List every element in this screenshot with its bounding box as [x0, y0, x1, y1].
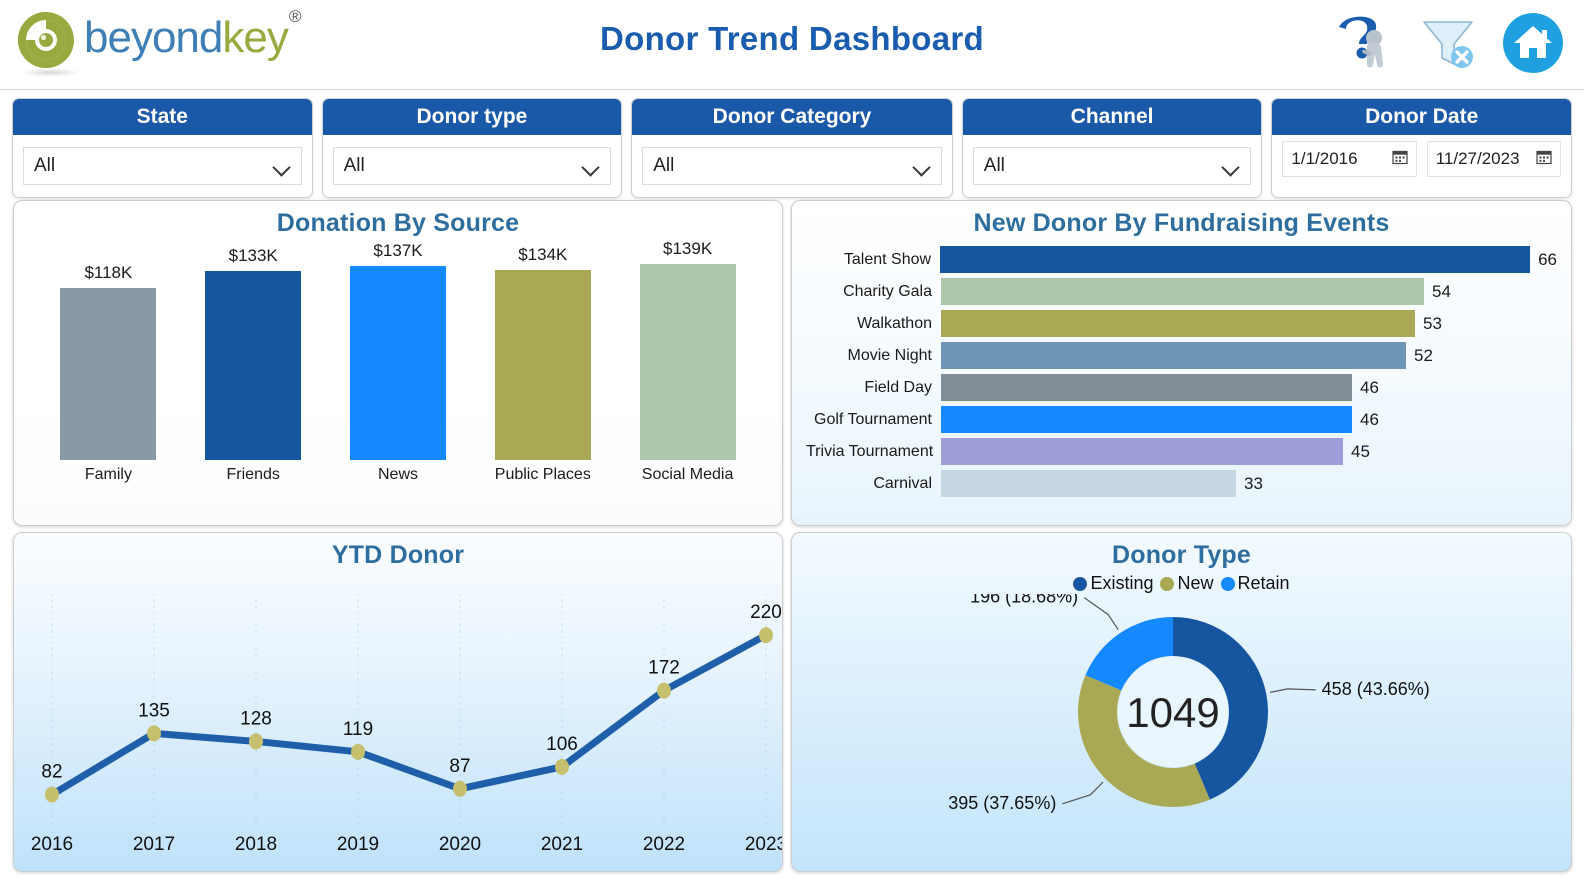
column-value-label: $137K — [373, 241, 422, 261]
horizontal-bar-row[interactable]: Walkathon53 — [806, 308, 1557, 339]
column-value-label: $139K — [663, 239, 712, 259]
horizontal-bar-fill[interactable] — [941, 470, 1236, 497]
filter-card-donor-type[interactable]: Donor type All — [322, 98, 623, 198]
chevron-down-icon — [273, 161, 291, 171]
donut-slice-label: 196 (18.68%) — [970, 594, 1078, 607]
column-category-label: News — [326, 466, 471, 484]
chevron-down-icon — [1222, 161, 1240, 171]
horizontal-bar-value-label: 45 — [1351, 442, 1370, 462]
donut-leader-line — [1084, 598, 1118, 630]
horizontal-bar-category-label: Movie Night — [806, 347, 941, 365]
donut-chart-donor-type: 1049458 (43.66%)395 (37.65%)196 (18.68%) — [792, 594, 1571, 852]
donor-category-dropdown-value: All — [653, 155, 674, 177]
column-bar[interactable] — [495, 270, 591, 460]
column-bar[interactable] — [640, 264, 736, 460]
filter-bar: State All Donor type All Donor Category — [0, 94, 1584, 198]
column-bar[interactable] — [205, 271, 301, 460]
column-bar[interactable] — [350, 266, 446, 460]
horizontal-bar-row[interactable]: Golf Tournament46 — [806, 404, 1557, 435]
column-item[interactable]: $134K — [470, 238, 615, 460]
state-dropdown-value: All — [34, 155, 55, 177]
horizontal-bar-track: 66 — [940, 246, 1557, 273]
legend-color-dot — [1073, 577, 1087, 591]
filter-card-state[interactable]: State All — [12, 98, 313, 198]
line-chart-ytd-donor: 8220161352017128201811920198720201062021… — [14, 570, 782, 866]
donut-slice-label: 458 (43.66%) — [1322, 679, 1430, 699]
column-item[interactable]: $137K — [326, 238, 471, 460]
column-category-label: Family — [36, 466, 181, 484]
legend-label: New — [1177, 573, 1213, 594]
horizontal-bar-fill[interactable] — [941, 406, 1352, 433]
line-marker[interactable] — [555, 759, 569, 775]
filter-card-channel[interactable]: Channel All — [962, 98, 1263, 198]
donor-type-dropdown-value: All — [344, 155, 365, 177]
column-value-label: $133K — [229, 246, 278, 266]
filter-body-donor-date: 1/1/2016 11/27/2023 — [1272, 135, 1571, 183]
chart-title-donation-by-source: Donation By Source — [14, 201, 782, 238]
horizontal-bar-row[interactable]: Movie Night52 — [806, 340, 1557, 371]
horizontal-bar-track: 45 — [941, 438, 1557, 465]
legend-item[interactable]: New — [1160, 573, 1213, 594]
line-axis-label: 2018 — [235, 834, 277, 855]
chart-title-ytd-donor: YTD Donor — [14, 533, 782, 570]
line-marker[interactable] — [351, 744, 365, 760]
line-marker[interactable] — [453, 781, 467, 797]
filter-body-donor-category: All — [632, 135, 952, 197]
donut-slice-label: 395 (37.65%) — [948, 793, 1056, 813]
horizontal-bar-category-label: Field Day — [806, 379, 941, 397]
filter-card-donor-category[interactable]: Donor Category All — [631, 98, 953, 198]
panel-donation-by-source: Donation By Source $118K$133K$137K$134K$… — [13, 200, 783, 526]
calendar-icon[interactable] — [1536, 149, 1552, 170]
help-question-icon[interactable] — [1334, 12, 1396, 79]
horizontal-bar-row[interactable]: Carnival33 — [806, 468, 1557, 499]
horizontal-bar-fill[interactable] — [941, 374, 1352, 401]
horizontal-bar-fill[interactable] — [941, 342, 1406, 369]
horizontal-bar-track: 53 — [941, 310, 1557, 337]
donor-type-dropdown[interactable]: All — [333, 147, 612, 185]
home-icon[interactable] — [1502, 12, 1564, 79]
filter-body-state: All — [13, 135, 312, 197]
column-item[interactable]: $133K — [181, 238, 326, 460]
donor-date-end-value: 11/27/2023 — [1436, 149, 1520, 169]
horizontal-bar-category-label: Carnival — [806, 475, 941, 493]
column-value-label: $134K — [518, 245, 567, 265]
horizontal-bar-fill[interactable] — [941, 278, 1424, 305]
horizontal-bar-track: 46 — [941, 406, 1557, 433]
line-axis-label: 2023 — [745, 834, 783, 855]
chevron-down-icon — [913, 161, 931, 171]
horizontal-bar-row[interactable]: Talent Show66 — [806, 244, 1557, 275]
horizontal-bar-category-label: Golf Tournament — [806, 411, 941, 429]
legend-color-dot — [1160, 577, 1174, 591]
column-bars-group: $118K$133K$137K$134K$139K — [36, 238, 760, 460]
header-icon-group — [1334, 12, 1564, 79]
panel-ytd-donor: YTD Donor 822016135201712820181192019872… — [13, 532, 783, 872]
horizontal-bar-track: 46 — [941, 374, 1557, 401]
horizontal-bar-category-label: Walkathon — [806, 315, 941, 333]
line-value-label: 135 — [138, 700, 170, 721]
line-axis-label: 2016 — [31, 834, 73, 855]
dashboard-root: beyondkey® Donor Trend Dashboard — [0, 0, 1584, 884]
donor-date-end-input[interactable]: 11/27/2023 — [1427, 141, 1561, 177]
line-axis-label: 2017 — [133, 834, 175, 855]
horizontal-bar-value-label: 46 — [1360, 378, 1379, 398]
filter-label-channel: Channel — [963, 99, 1262, 135]
line-value-label: 220 — [750, 602, 782, 623]
column-chart-donation-by-source: $118K$133K$137K$134K$139K FamilyFriendsN… — [14, 238, 782, 506]
donor-category-dropdown[interactable]: All — [642, 147, 942, 185]
horizontal-bar-chart: Talent Show66Charity Gala54Walkathon53Mo… — [792, 238, 1571, 499]
line-axis-label: 2020 — [439, 834, 481, 855]
filter-body-donor-type: All — [323, 135, 622, 197]
logo-shadow — [20, 68, 80, 77]
filter-label-donor-type: Donor type — [323, 99, 622, 135]
legend-item[interactable]: Retain — [1221, 573, 1290, 594]
line-marker[interactable] — [147, 725, 161, 741]
line-axis-label: 2019 — [337, 834, 379, 855]
line-axis-label: 2022 — [643, 834, 685, 855]
horizontal-bar-fill[interactable] — [940, 246, 1530, 273]
horizontal-bar-value-label: 54 — [1432, 282, 1451, 302]
horizontal-bar-value-label: 66 — [1538, 250, 1557, 270]
line-marker[interactable] — [657, 683, 671, 699]
legend-item[interactable]: Existing — [1073, 573, 1153, 594]
line-axis-label: 2021 — [541, 834, 583, 855]
donut-leader-line — [1062, 782, 1103, 804]
horizontal-bar-category-label: Charity Gala — [806, 283, 941, 301]
horizontal-bar-value-label: 52 — [1414, 346, 1433, 366]
clear-filter-icon[interactable] — [1418, 12, 1480, 79]
horizontal-bar-category-label: Trivia Tournament — [806, 443, 941, 461]
horizontal-bar-fill[interactable] — [941, 438, 1343, 465]
legend-label: Retain — [1238, 573, 1290, 594]
filter-label-donor-date: Donor Date — [1272, 99, 1571, 135]
donor-date-start-input[interactable]: 1/1/2016 — [1282, 141, 1416, 177]
donut-center-total: 1049 — [1126, 689, 1219, 736]
line-value-label: 172 — [648, 658, 680, 679]
filter-body-channel: All — [963, 135, 1262, 197]
filter-card-donor-date[interactable]: Donor Date 1/1/2016 — [1271, 98, 1572, 198]
horizontal-bar-row[interactable]: Charity Gala54 — [806, 276, 1557, 307]
horizontal-bar-category-label: Talent Show — [806, 251, 940, 269]
horizontal-bar-fill[interactable] — [941, 310, 1415, 337]
column-axis-labels: FamilyFriendsNewsPublic PlacesSocial Med… — [36, 466, 760, 484]
horizontal-bar-value-label: 33 — [1244, 474, 1263, 494]
line-marker[interactable] — [759, 627, 773, 643]
panel-donor-type: Donor Type ExistingNewRetain 1049458 (43… — [791, 532, 1572, 872]
filter-label-state: State — [13, 99, 312, 135]
line-value-label: 128 — [240, 708, 272, 729]
line-value-label: 106 — [546, 734, 578, 755]
horizontal-bar-row[interactable]: Trivia Tournament45 — [806, 436, 1557, 467]
column-item[interactable]: $139K — [615, 238, 760, 460]
channel-dropdown-value: All — [984, 155, 1005, 177]
line-marker[interactable] — [249, 733, 263, 749]
column-value-label: $118K — [84, 263, 132, 283]
calendar-icon[interactable] — [1392, 149, 1408, 170]
column-category-label: Social Media — [615, 466, 760, 484]
line-value-label: 82 — [41, 762, 62, 783]
horizontal-bar-value-label: 53 — [1423, 314, 1442, 334]
chart-title-donor-type: Donor Type — [792, 533, 1571, 570]
column-category-label: Public Places — [470, 466, 615, 484]
panel-new-donor-by-events: New Donor By Fundraising Events Talent S… — [791, 200, 1572, 526]
channel-dropdown[interactable]: All — [973, 147, 1252, 185]
legend-label: Existing — [1090, 573, 1153, 594]
line-value-label: 87 — [449, 756, 470, 777]
horizontal-bar-track: 33 — [941, 470, 1557, 497]
donut-leader-line — [1270, 689, 1316, 693]
column-category-label: Friends — [181, 466, 326, 484]
horizontal-bar-value-label: 46 — [1360, 410, 1379, 430]
line-marker[interactable] — [45, 787, 59, 803]
donut-legend: ExistingNewRetain — [792, 573, 1571, 594]
state-dropdown[interactable]: All — [23, 147, 302, 185]
chevron-down-icon — [582, 161, 600, 171]
donor-date-start-value: 1/1/2016 — [1291, 149, 1357, 169]
column-bar[interactable] — [60, 288, 156, 460]
legend-color-dot — [1221, 577, 1235, 591]
header-bar: beyondkey® Donor Trend Dashboard — [0, 0, 1584, 90]
column-item[interactable]: $118K — [36, 238, 181, 460]
horizontal-bar-track: 52 — [941, 342, 1557, 369]
horizontal-bar-row[interactable]: Field Day46 — [806, 372, 1557, 403]
chart-title-new-donor-events: New Donor By Fundraising Events — [792, 201, 1571, 238]
filter-label-donor-category: Donor Category — [632, 99, 952, 135]
horizontal-bar-track: 54 — [941, 278, 1557, 305]
line-value-label: 119 — [343, 719, 373, 740]
